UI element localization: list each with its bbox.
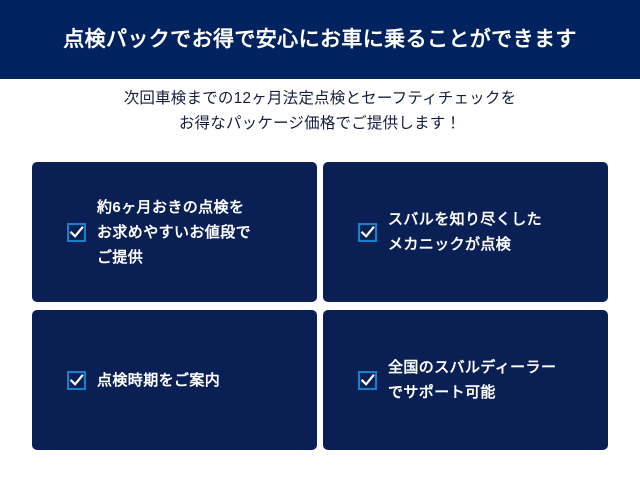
- promo-page: 点検パックでお得で安心にお車に乗ることができます 次回車検までの12ヶ月法定点検…: [0, 0, 640, 480]
- feature-card-1-line-3: ご提供: [97, 245, 251, 270]
- feature-card-2-content: スバルを知り尽くした メカニックが点検: [358, 207, 542, 257]
- feature-card-1-line-1: 約6ヶ月おきの点検を: [97, 195, 251, 220]
- feature-card-4-text: 全国のスバルディーラー でサポート可能: [388, 355, 556, 405]
- subtitle-line-2: お得なパッケージ価格でご提供します！: [0, 111, 640, 136]
- feature-card-3-text: 点検時期をご案内: [97, 368, 220, 393]
- checkbox-checked-icon: [67, 371, 86, 390]
- feature-card-4-line-1: 全国のスバルディーラー: [388, 355, 556, 380]
- feature-card-4: 全国のスバルディーラー でサポート可能: [323, 310, 608, 450]
- feature-card-4-line-2: でサポート可能: [388, 380, 556, 405]
- feature-card-2-line-2: メカニックが点検: [388, 232, 542, 257]
- checkbox-checked-icon: [67, 223, 86, 242]
- header-banner: 点検パックでお得で安心にお車に乗ることができます: [0, 0, 640, 79]
- checkbox-checked-icon: [358, 223, 377, 242]
- feature-card-3-content: 点検時期をご案内: [67, 368, 220, 393]
- feature-card-2-text: スバルを知り尽くした メカニックが点検: [388, 207, 542, 257]
- subtitle-line-1: 次回車検までの12ヶ月法定点検とセーフティチェックを: [0, 86, 640, 111]
- feature-card-1-content: 約6ヶ月おきの点検を お求めやすいお値段で ご提供: [67, 195, 251, 270]
- checkbox-checked-icon: [358, 371, 377, 390]
- feature-card-4-content: 全国のスバルディーラー でサポート可能: [358, 355, 556, 405]
- feature-card-1-line-2: お求めやすいお値段で: [97, 220, 251, 245]
- feature-card-2: スバルを知り尽くした メカニックが点検: [323, 162, 608, 302]
- page-title: 点検パックでお得で安心にお車に乗ることができます: [63, 27, 577, 52]
- feature-card-3-line-1: 点検時期をご案内: [97, 368, 220, 393]
- feature-card-grid: 約6ヶ月おきの点検を お求めやすいお値段で ご提供 スバルを知り尽くした メカニ…: [32, 162, 608, 450]
- feature-card-3: 点検時期をご案内: [32, 310, 317, 450]
- subtitle-block: 次回車検までの12ヶ月法定点検とセーフティチェックを お得なパッケージ価格でご提…: [0, 86, 640, 136]
- feature-card-1-text: 約6ヶ月おきの点検を お求めやすいお値段で ご提供: [97, 195, 251, 270]
- feature-card-1: 約6ヶ月おきの点検を お求めやすいお値段で ご提供: [32, 162, 317, 302]
- feature-card-2-line-1: スバルを知り尽くした: [388, 207, 542, 232]
